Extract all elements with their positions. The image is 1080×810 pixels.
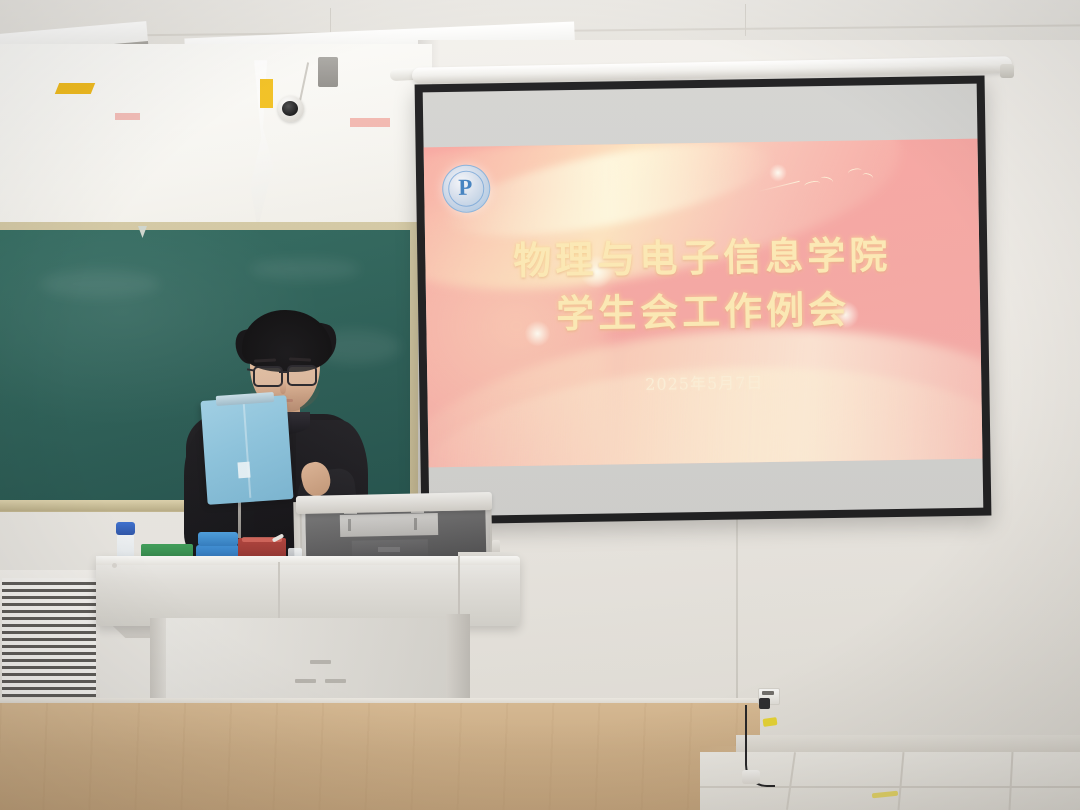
yellow-tape-mark (260, 79, 273, 108)
chalk-smudge (40, 270, 160, 298)
classroom-photo: P 物理与电子信息学院 学生会工作例会 2025年5月7日 (0, 0, 1080, 810)
camera-lens-icon (282, 101, 298, 116)
podium-notch (112, 563, 117, 568)
podium-vent-slot (295, 679, 316, 683)
ceiling-panel-join (330, 8, 331, 34)
white-wall-panel (0, 44, 432, 227)
wall-sensor-device (318, 57, 338, 87)
pink-tape-mark (350, 118, 390, 127)
outlet-plug (759, 698, 770, 709)
clipboard-label (237, 462, 250, 479)
cable-floor-anchor (742, 770, 760, 784)
glasses-bridge (279, 371, 288, 373)
podium-top-edge (96, 556, 520, 565)
radiator-vent-grille (2, 578, 96, 697)
podium-seam (458, 556, 460, 618)
yellow-tape-mark (55, 83, 95, 94)
pink-tape-mark (115, 113, 140, 120)
bottle-cap (116, 522, 135, 535)
projection-screen-surface: P 物理与电子信息学院 学生会工作例会 2025年5月7日 (423, 84, 984, 517)
podium-vent-slot (325, 679, 346, 683)
glasses-lens-left (253, 366, 283, 387)
podium-seam (278, 562, 280, 620)
blue-box-lid (198, 532, 238, 546)
screen-roller-cap (1000, 64, 1014, 78)
slide-title-block: 物理与电子信息学院 学生会工作例会 (425, 227, 981, 344)
outlet-slots (762, 691, 774, 695)
podium-vent-slot (310, 660, 331, 664)
presentation-slide: P 物理与电子信息学院 学生会工作例会 2025年5月7日 (424, 139, 983, 468)
emblem-letter: P (458, 176, 474, 200)
slide-title-line-1: 物理与电子信息学院 (425, 227, 980, 290)
wood-floor (0, 703, 760, 810)
slide-title-line-2: 学生会工作例会 (426, 281, 981, 344)
person-nose (280, 381, 286, 394)
tile-grout-line (700, 786, 1080, 788)
ceiling-panel-join (745, 4, 746, 36)
glasses-lens-right (287, 365, 317, 386)
chalk-smudge (250, 258, 360, 280)
